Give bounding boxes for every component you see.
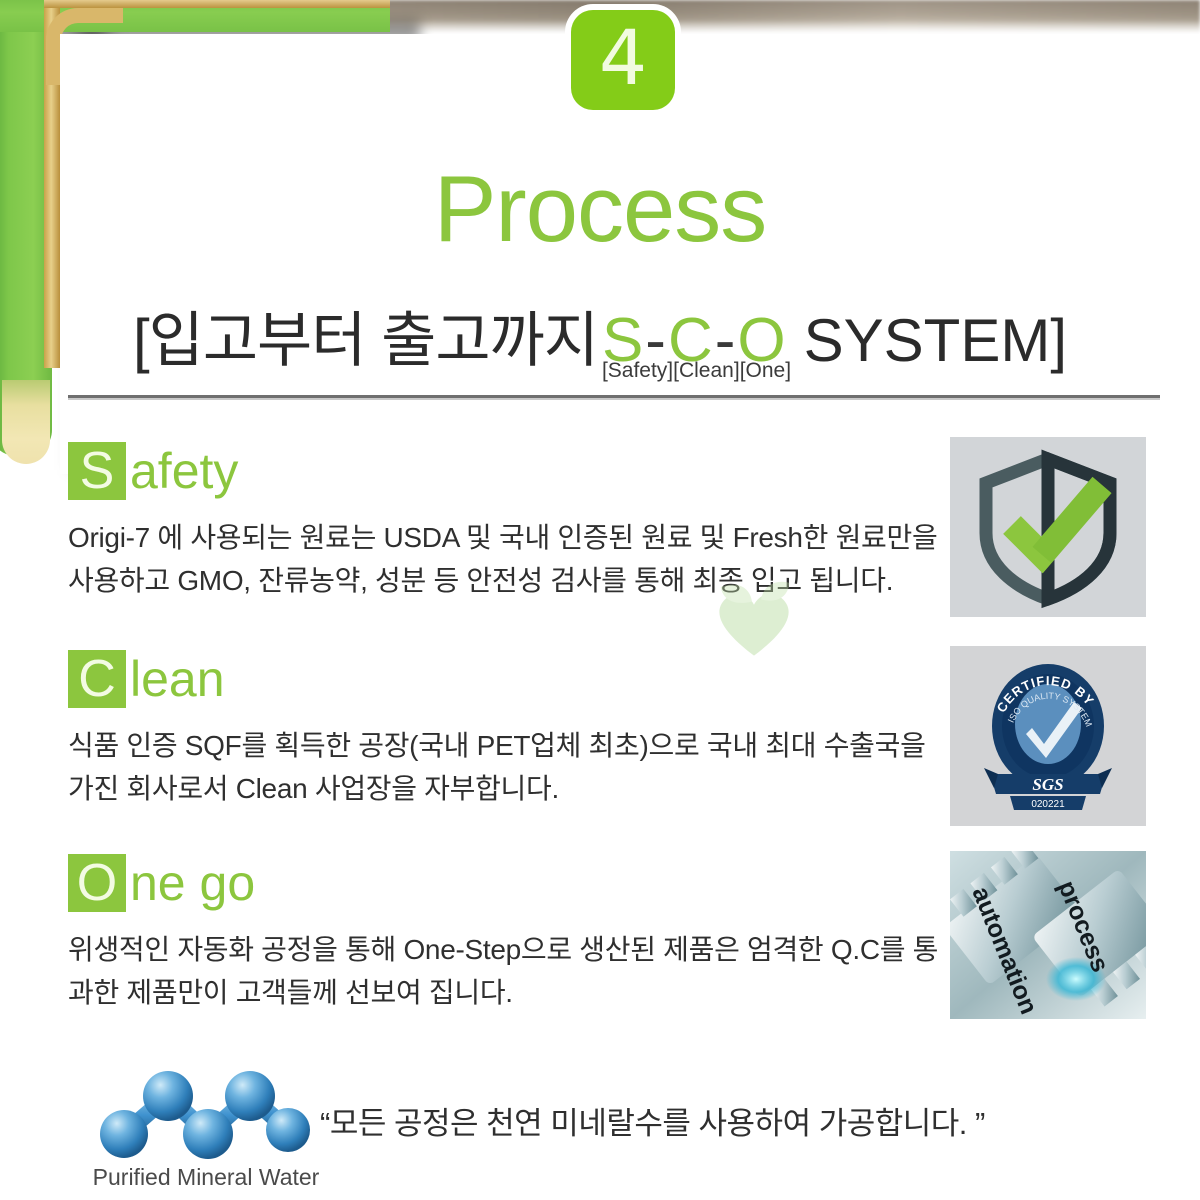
sco-glosses: [Safety] [Clean] [One] (602, 359, 788, 383)
sco-gloss-one: [One] (740, 359, 791, 383)
page-title: Process (0, 155, 1200, 263)
sgs-certification-image: CERTIFIED BY ISO QUALITY SYSTEM SGS 0202… (950, 646, 1146, 826)
section-one-go-heading: O ne go (68, 852, 948, 914)
system-label: SYSTEM] (804, 306, 1067, 375)
section-clean-body: 식품 인증 SQF를 획득한 공장(국내 PET업체 최초)으로 국내 최대 수… (68, 724, 948, 811)
section-safety-title: afety (130, 446, 238, 496)
section-number-label: 4 (599, 20, 647, 96)
section-one-go: O ne go 위생적인 자동화 공정을 통해 One-Step으로 생산된 제… (68, 852, 948, 1015)
section-clean-title: lean (130, 654, 225, 704)
decorative-frame-tip (2, 380, 50, 464)
sco-acronym: S-C-O [Safety] [Clean] [One] (602, 305, 788, 376)
section-one-go-title: ne go (130, 858, 255, 908)
svg-text:020221: 020221 (1031, 799, 1065, 810)
header-divider (68, 395, 1160, 398)
sco-gloss-safety: [Safety] (602, 359, 673, 383)
section-one-go-initial: O (68, 854, 126, 912)
section-number-badge: 4 (571, 10, 675, 110)
svg-text:SGS: SGS (1032, 775, 1063, 794)
water-molecule-icon (96, 1070, 316, 1160)
section-clean-heading: C lean (68, 648, 948, 710)
section-safety-heading: S afety (68, 440, 948, 502)
subtitle-row: [입고부터 출고까지 S-C-O [Safety] [Clean] [One] … (0, 292, 1200, 379)
shield-check-image (950, 437, 1146, 617)
molecule-caption: Purified Mineral Water (86, 1164, 326, 1191)
footer-quote: “모든 공정은 천연 미네랄수를 사용하여 가공합니다. ” (320, 1098, 1080, 1143)
section-safety-initial: S (68, 442, 126, 500)
subtitle-korean: [입고부터 출고까지 (133, 292, 598, 379)
process-automation-gears-image: automation process (950, 851, 1146, 1019)
section-one-go-body: 위생적인 자동화 공정을 통해 One-Step으로 생산된 제품은 엄격한 Q… (68, 928, 948, 1015)
sco-gloss-clean: [Clean] (673, 359, 740, 383)
section-safety: S afety Origi-7 에 사용되는 원료는 USDA 및 국내 인증된… (68, 440, 948, 603)
leaf-heart-watermark (700, 560, 808, 664)
section-clean-initial: C (68, 650, 126, 708)
section-clean: C lean 식품 인증 SQF를 획득한 공장(국내 PET업체 최초)으로 … (68, 648, 948, 811)
decorative-gold-line-top (44, 0, 390, 8)
section-safety-body: Origi-7 에 사용되는 원료는 USDA 및 국내 인증된 원료 및 Fr… (68, 516, 948, 603)
